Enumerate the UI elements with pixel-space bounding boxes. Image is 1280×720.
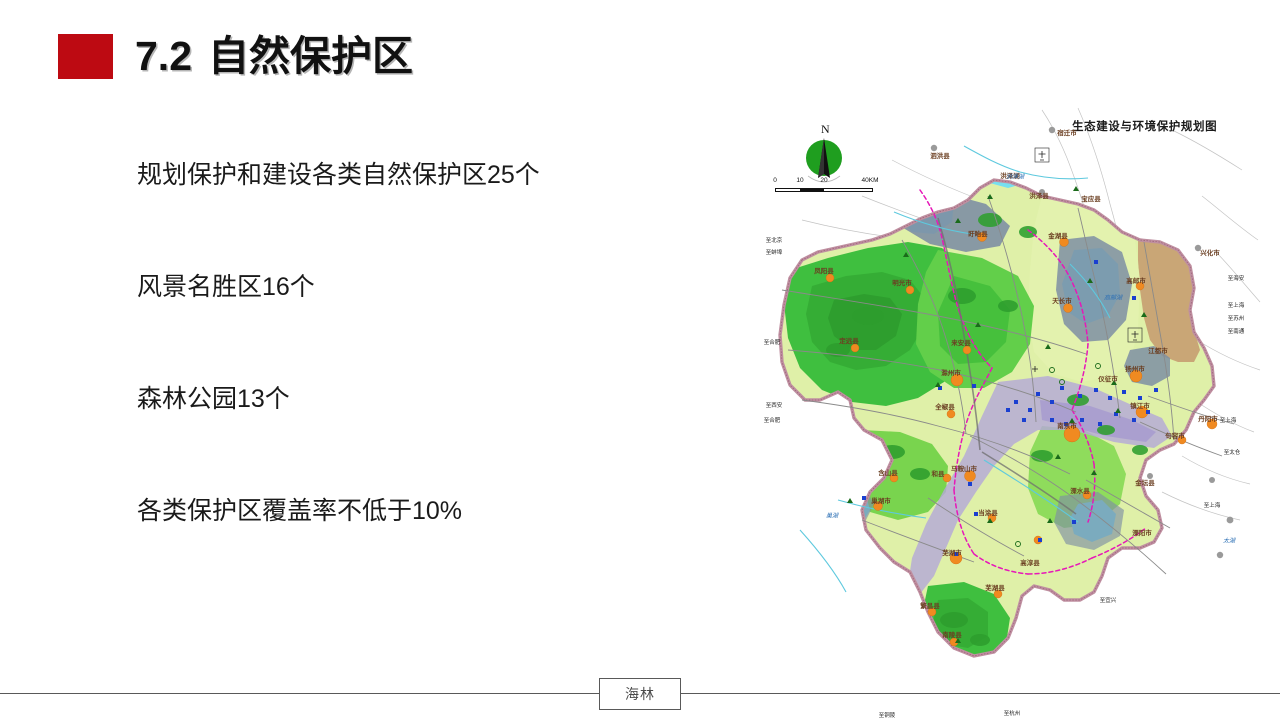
title-heading: 自然保护区 <box>208 33 413 79</box>
page-title: 7.2自然保护区 <box>58 25 413 87</box>
scalebar-label-10: 10 <box>796 177 803 184</box>
slide-root: 7.2自然保护区 规划保护和建设各类自然保护区25个 风景名胜区16个 森林公园… <box>0 0 1280 720</box>
bullet-list: 规划保护和建设各类自然保护区25个 风景名胜区16个 森林公园13个 各类保护区… <box>137 160 697 526</box>
map-direction-label: 至杭州 <box>1004 709 1021 717</box>
list-item: 规划保护和建设各类自然保护区25个 <box>137 160 697 272</box>
footer-rule-left <box>0 693 604 694</box>
compass-icon: N <box>780 122 870 207</box>
list-item: 森林公园13个 <box>137 384 697 496</box>
title-marker-square <box>58 34 113 79</box>
map-direction-label: 至铜陵 <box>879 711 896 719</box>
list-item: 各类保护区覆盖率不低于10% <box>137 496 697 526</box>
list-item: 风景名胜区16个 <box>137 272 697 384</box>
scalebar-label-40: 40KM <box>862 177 879 184</box>
scalebar-label-20: 20 <box>820 177 827 184</box>
map-title: 生态建设与环境保护规划图 <box>1072 118 1217 134</box>
footer-rule-right <box>676 693 1280 694</box>
title-label: 7.2自然保护区 <box>135 36 413 77</box>
map-scalebar: 0 10 20 40KM <box>775 178 873 194</box>
compass-needle-icon <box>780 122 870 207</box>
footer-label-box: 海林 <box>599 678 681 710</box>
scalebar-ticks <box>775 188 873 192</box>
map-figure: 生态建设与环境保护规划图 N 0 10 20 40KM 泗洪县宿迁市洪泽湖洪泽县… <box>742 100 1267 670</box>
scalebar-label-0: 0 <box>773 177 777 184</box>
title-number: 7.2 <box>135 33 192 79</box>
slide-footer: 海林 <box>0 693 1280 695</box>
